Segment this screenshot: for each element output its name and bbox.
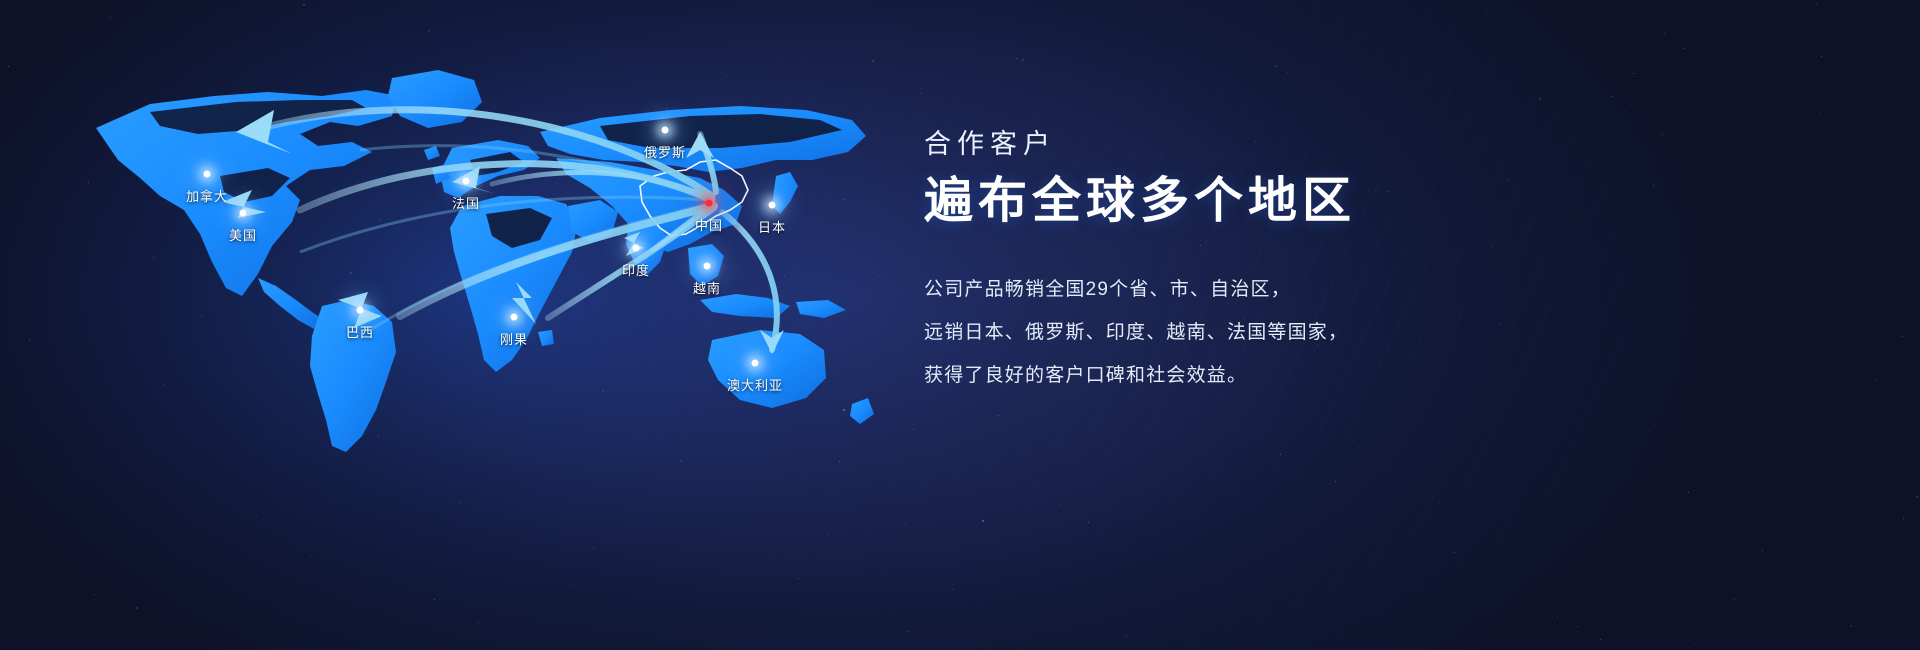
description-line-1: 公司产品畅销全国29个省、市、自治区， bbox=[924, 275, 1584, 304]
banner-copy: 合作客户 遍布全球多个地区 公司产品畅销全国29个省、市、自治区， 远销日本、俄… bbox=[924, 128, 1584, 391]
global-clients-banner: 加拿大 美国 巴西 法国 刚果 俄罗斯 印度 中国 bbox=[0, 0, 1920, 650]
world-map-svg bbox=[0, 0, 1060, 650]
world-map: 加拿大 美国 巴西 法国 刚果 俄罗斯 印度 中国 bbox=[0, 0, 1060, 650]
description-line-3: 获得了良好的客户口碑和社会效益。 bbox=[924, 361, 1584, 390]
description-block: 公司产品畅销全国29个省、市、自治区， 远销日本、俄罗斯、印度、越南、法国等国家… bbox=[924, 275, 1584, 391]
eyebrow-text: 合作客户 bbox=[924, 128, 1584, 162]
page-title: 遍布全球多个地区 bbox=[924, 172, 1584, 231]
description-line-2: 远销日本、俄罗斯、印度、越南、法国等国家， bbox=[924, 318, 1584, 347]
